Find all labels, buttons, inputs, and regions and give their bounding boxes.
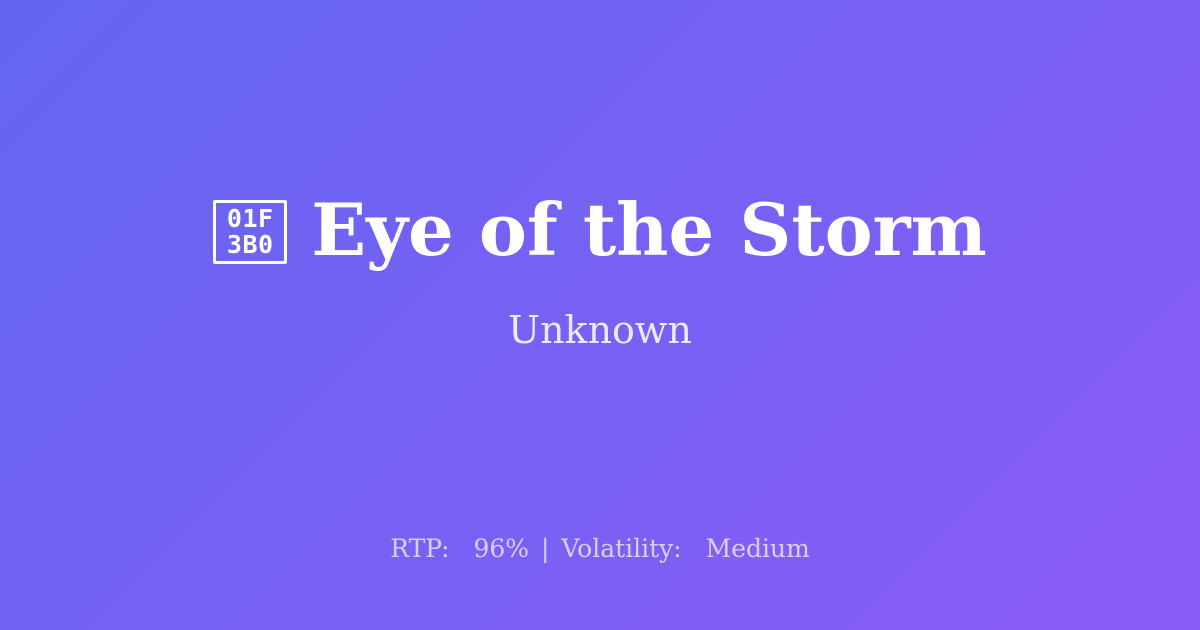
tofu-codepoint-top: 01F bbox=[227, 206, 274, 232]
subtitle: Unknown bbox=[508, 310, 692, 352]
title-row: 01F 3B0 Eye of the Storm bbox=[213, 192, 987, 268]
slot-machine-emoji-icon: 01F 3B0 bbox=[213, 200, 287, 264]
meta-volatility-value: Medium bbox=[706, 534, 810, 563]
meta-separator: | bbox=[537, 534, 553, 563]
meta-rtp-value: 96% bbox=[473, 534, 529, 563]
tofu-codepoint-bottom: 3B0 bbox=[227, 232, 274, 258]
meta-volatility-label: Volatility: bbox=[561, 534, 681, 563]
page-title: Eye of the Storm bbox=[311, 192, 987, 268]
og-share-card: 01F 3B0 Eye of the Storm Unknown RTP: 96… bbox=[0, 0, 1200, 630]
meta-line: RTP: 96% | Volatility: Medium bbox=[0, 534, 1200, 564]
meta-rtp-label: RTP: bbox=[390, 534, 449, 563]
